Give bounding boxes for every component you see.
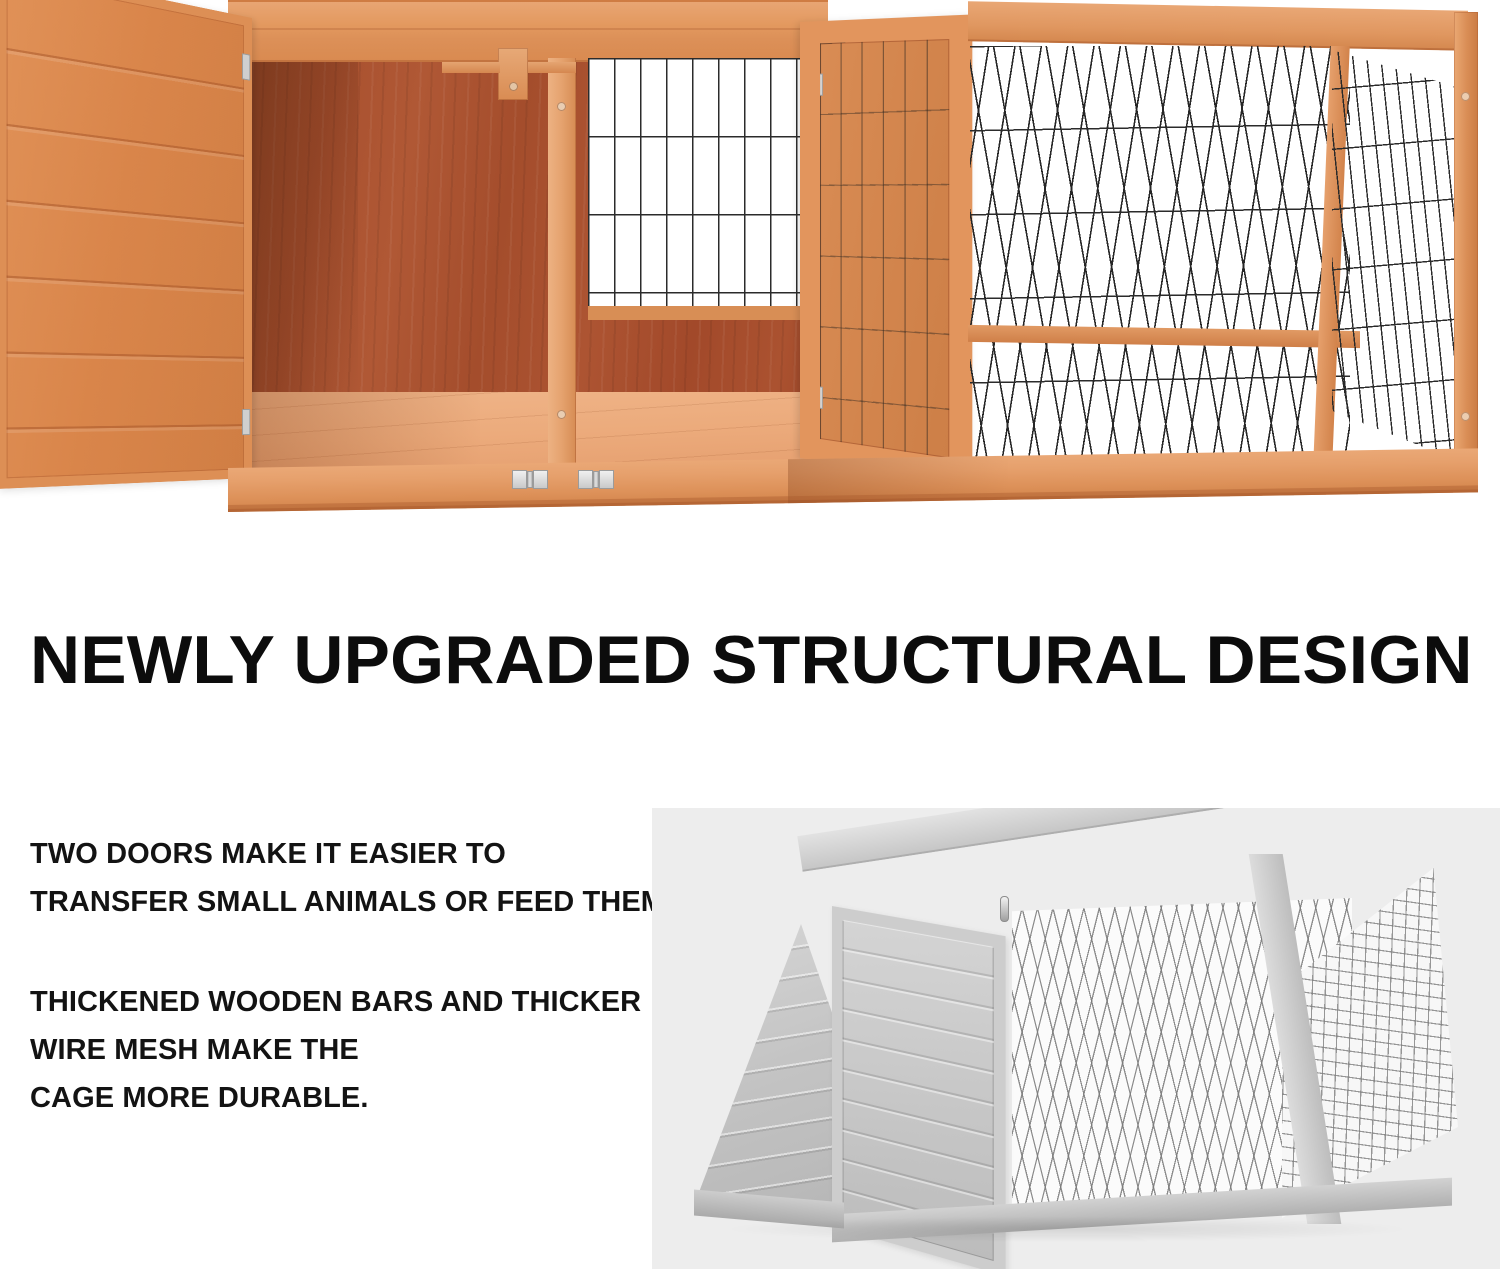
latch-pin-icon xyxy=(509,82,518,91)
wooden-latch-icon xyxy=(498,48,528,100)
hinge-plate xyxy=(512,470,527,489)
hero-product-photo xyxy=(0,0,1500,520)
feature-line: WIRE MESH MAKE THE xyxy=(30,1026,630,1074)
hinge-plate xyxy=(533,470,548,489)
feature-line: CAGE MORE DURABLE. xyxy=(30,1074,630,1122)
base-hinge-right-icon xyxy=(578,470,614,489)
gray-a-frame-hutch xyxy=(682,844,1472,1244)
run-back-mesh-wires xyxy=(1332,50,1456,460)
run-front-mesh xyxy=(970,46,1350,466)
gray-product-photo xyxy=(652,808,1500,1269)
hinge-plate xyxy=(578,470,593,489)
gray-ground-shadow xyxy=(722,1216,1412,1242)
open-wooden-slat-door xyxy=(0,0,252,489)
screw-icon xyxy=(557,102,566,111)
hinge-plate xyxy=(599,470,614,489)
triangular-wire-run xyxy=(960,6,1488,506)
feature-line: TRANSFER SMALL ANIMALS OR FEED THEM. xyxy=(30,878,630,926)
run-mesh-horizontal xyxy=(970,46,1350,466)
feature-text-block: TWO DOORS MAKE IT EASIER TO TRANSFER SMA… xyxy=(30,830,630,1122)
hutch-roof-panel xyxy=(228,0,828,62)
run-top-rail xyxy=(968,1,1468,51)
feature-line: THICKENED WOODEN BARS AND THICKER xyxy=(30,978,630,1026)
run-back-mesh xyxy=(1332,50,1456,460)
base-hinge-left-icon xyxy=(512,470,548,489)
feature-line: TWO DOORS MAKE IT EASIER TO xyxy=(30,830,630,878)
screw-icon xyxy=(1461,412,1470,421)
page-headline: NEWLY UPGRADED STRUCTURAL DESIGN xyxy=(30,620,1500,700)
screw-icon xyxy=(557,410,566,419)
door-slat-lines xyxy=(7,0,244,478)
run-right-post xyxy=(1454,12,1478,482)
door-hinge-top-icon xyxy=(242,53,250,81)
paragraph-spacer xyxy=(30,926,630,978)
latch-arm-left xyxy=(442,62,500,73)
door-hinge-bottom-icon xyxy=(242,409,250,435)
mesh-door-hinge-top-icon xyxy=(816,74,823,96)
screw-icon xyxy=(1461,92,1470,101)
latch-arm-right xyxy=(528,62,576,73)
open-wire-mesh-door xyxy=(800,14,972,485)
hutch-corner-post xyxy=(548,58,576,478)
mesh-door-hinge-bottom-icon xyxy=(816,386,823,409)
mesh-door-wires xyxy=(820,39,949,458)
gray-latch-icon xyxy=(1000,896,1009,922)
